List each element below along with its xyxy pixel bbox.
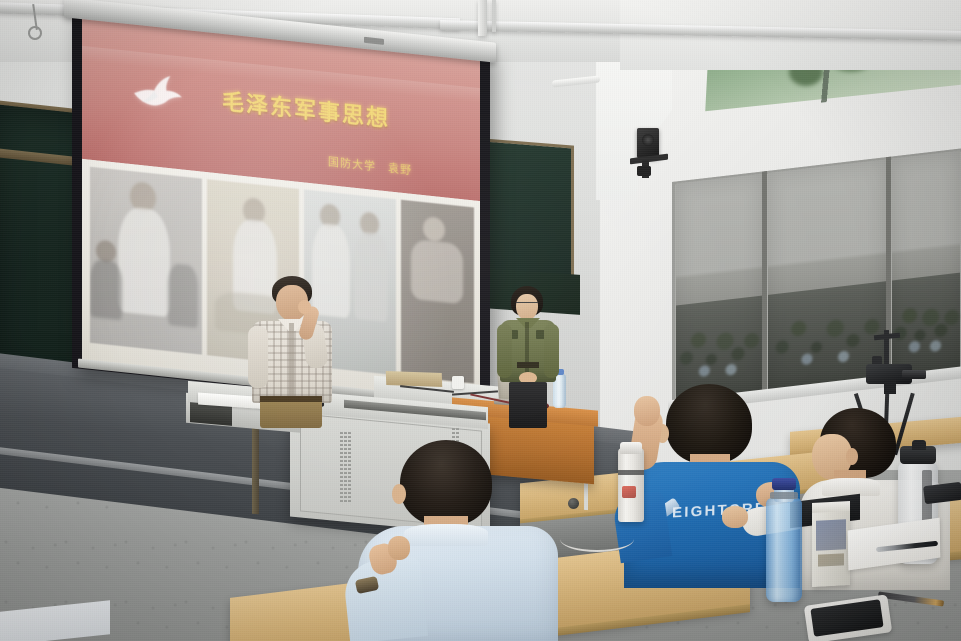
lecturer bbox=[246, 276, 336, 421]
thermos-flask[interactable] bbox=[618, 448, 644, 522]
bottle-spout[interactable] bbox=[912, 440, 926, 450]
shirt-placket bbox=[289, 323, 294, 401]
left-arm bbox=[497, 324, 512, 378]
uniform-belt bbox=[517, 362, 539, 368]
ear bbox=[392, 484, 406, 504]
slide-photo bbox=[401, 200, 474, 384]
uniform-trousers bbox=[509, 382, 547, 428]
camera-lens-icon bbox=[902, 370, 926, 379]
speaker-mount bbox=[637, 166, 651, 176]
roller-shade[interactable] bbox=[892, 151, 960, 377]
slide-photo bbox=[90, 167, 202, 355]
shirt-collar bbox=[822, 478, 880, 496]
left-arm bbox=[248, 326, 268, 388]
screen-hook-icon bbox=[28, 26, 42, 40]
cardboard-box bbox=[386, 371, 442, 387]
ceiling-beam-vertical bbox=[492, 0, 496, 32]
student-light-blue-shirt bbox=[348, 440, 558, 641]
hair bbox=[400, 440, 492, 526]
hair bbox=[666, 384, 752, 464]
peace-dove-icon bbox=[128, 68, 186, 114]
glasses-icon bbox=[516, 302, 538, 308]
thermos-cap bbox=[620, 442, 642, 454]
thermos-band bbox=[618, 470, 644, 475]
right-hand bbox=[298, 300, 311, 314]
tripod-head-mount bbox=[884, 380, 896, 394]
bottle-ring bbox=[770, 492, 798, 499]
trousers bbox=[260, 398, 322, 428]
roller-shade[interactable] bbox=[676, 174, 762, 402]
roller-shade[interactable] bbox=[768, 159, 886, 391]
bottle-cap[interactable] bbox=[772, 478, 796, 490]
power-adapter bbox=[452, 376, 464, 389]
right-arm bbox=[544, 324, 559, 378]
uniformed-officer bbox=[497, 286, 559, 408]
wall-speaker-icon bbox=[637, 128, 659, 158]
hand-near-head bbox=[634, 396, 660, 426]
blue-water-bottle[interactable] bbox=[766, 498, 802, 602]
thermos-label bbox=[622, 486, 636, 498]
right-hand bbox=[388, 536, 410, 560]
belt bbox=[260, 396, 322, 402]
ear bbox=[846, 448, 858, 465]
shirt-collar bbox=[404, 524, 488, 546]
ceiling-beam-vertical bbox=[478, 0, 487, 36]
carton-label bbox=[818, 553, 844, 566]
hand bbox=[722, 506, 748, 528]
carton-top bbox=[812, 501, 850, 513]
carton-artwork bbox=[816, 519, 846, 551]
lecture-hall-photo: 毛泽东军事思想 国防大学 袁野 bbox=[0, 0, 961, 641]
